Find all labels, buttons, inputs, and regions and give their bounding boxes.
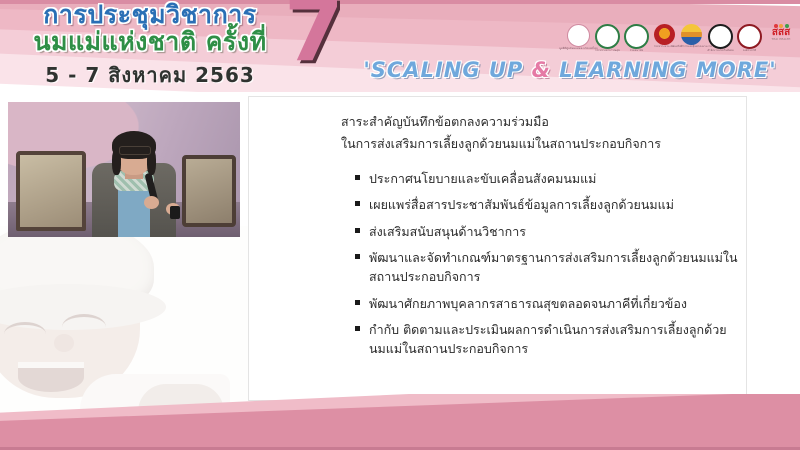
speaker-video-thumbnail[interactable] (8, 102, 240, 237)
royal-emblem-icon (681, 24, 702, 45)
thaihealth-wordmark: สสส (772, 28, 790, 38)
logo-caption: สำนักงานประกันสังคม (707, 50, 733, 53)
tagline-ampersand: & (532, 58, 551, 82)
presenter-remote (170, 206, 180, 219)
list-item: ประกาศนโยบายและขับเคลื่อนสังคมนมแม่ (353, 169, 741, 188)
logo-social-security: ⚖ สำนักงานประกันสังคม (708, 24, 733, 57)
logo-ministry-public-health: ⚕ กระทรวงสาธารณสุข (595, 24, 620, 57)
conference-tagline: 'SCALING UP & LEARNING MORE' (355, 58, 785, 82)
partner-seal-icon: ♛ (737, 24, 762, 49)
logo-caption: THAI HEALTH (771, 38, 790, 41)
slide-lead-line2: ในการส่งเสริมการเลี้ยงลูกด้วยนมแม่ในสถาน… (341, 133, 741, 155)
caduceus-icon: ⚕ (624, 24, 649, 49)
logo-ministry-labour: กระทรวงแรงงาน (653, 24, 675, 57)
conference-date: 5 - 7 สิงหาคม 2563 (0, 59, 300, 91)
breastfeeding-foundation-icon: ☉ (567, 24, 590, 47)
social-security-icon: ⚖ (708, 24, 733, 49)
caduceus-icon: ⚕ (595, 24, 620, 49)
speaker-glasses (119, 146, 151, 155)
slide-header: การประชุมวิชาการ นมแม่แห่งชาติ ครั้งที่ … (0, 0, 800, 92)
slide-body-text: สาระสำคัญบันทึกข้อตกลงความร่วมมือ ในการส… (341, 111, 741, 366)
conference-title-line2: นมแม่แห่งชาติ ครั้งที่ (0, 29, 300, 55)
list-item: เผยแพร่สื่อสารประชาสัมพันธ์ข้อมูลการเลี้… (353, 195, 741, 214)
logo-partner-org: ♛ องค์กรภาคี (737, 24, 762, 57)
logo-caption: มูลนิธิศูนย์นมแม่แห่งประเทศไทย (559, 48, 598, 51)
stage-chair-right (182, 155, 236, 227)
logo-royal-emblem: กรมสวัสดิการและคุ้มครองแรงงาน (679, 24, 704, 57)
logo-caption: กรมสวัสดิการและคุ้มครองแรงงาน (671, 46, 712, 49)
conference-title-block: การประชุมวิชาการ นมแม่แห่งชาติ ครั้งที่ … (0, 2, 300, 91)
edition-number: 7 (284, 0, 344, 74)
slide-bullet-list: ประกาศนโยบายและขับเคลื่อนสังคมนมแม่ เผยแ… (353, 169, 741, 359)
presentation-slide: การประชุมวิชาการ นมแม่แห่งชาติ ครั้งที่ … (0, 0, 800, 450)
list-item: กำกับ ติดตามและประเมินผลการดำเนินการส่งเ… (353, 320, 741, 359)
stage-chair-left (16, 151, 86, 231)
tagline-suffix: LEARNING MORE' (551, 58, 777, 82)
tagline-prefix: 'SCALING UP (363, 58, 531, 82)
slide-content-card: สาระสำคัญบันทึกข้อตกลงความร่วมมือ ในการส… (248, 96, 747, 401)
partner-logo-strip: ☉ มูลนิธิศูนย์นมแม่แห่งประเทศไทย ⚕ กระทร… (566, 24, 796, 58)
list-item: พัฒนาศักยภาพบุคลากรสาธารณสุขตลอดจนภาคีที… (353, 294, 741, 313)
logo-caption: องค์กรภาคี (743, 50, 756, 53)
slide-footer-band (0, 394, 800, 450)
logo-caption: กรมอนามัย (630, 50, 644, 53)
logo-royal-patronage: ☉ มูลนิธิศูนย์นมแม่แห่งประเทศไทย (566, 24, 591, 57)
speaker-hand-left (144, 196, 159, 209)
logo-thaihealth: สสส THAI HEALTH (766, 24, 796, 57)
conference-title-line1: การประชุมวิชาการ (0, 2, 300, 28)
list-item: ส่งเสริมสนับสนุนด้านวิชาการ (353, 222, 741, 241)
ministry-seal-icon (654, 24, 675, 45)
list-item: พัฒนาและจัดทำเกณฑ์มาตรฐานการส่งเสริมการเ… (353, 248, 741, 287)
logo-caption: กระทรวงสาธารณสุข (595, 50, 620, 53)
speaker-figure (92, 125, 176, 237)
slide-lead-line1: สาระสำคัญบันทึกข้อตกลงความร่วมมือ (341, 111, 741, 133)
logo-department-health: ⚕ กรมอนามัย (624, 24, 649, 57)
